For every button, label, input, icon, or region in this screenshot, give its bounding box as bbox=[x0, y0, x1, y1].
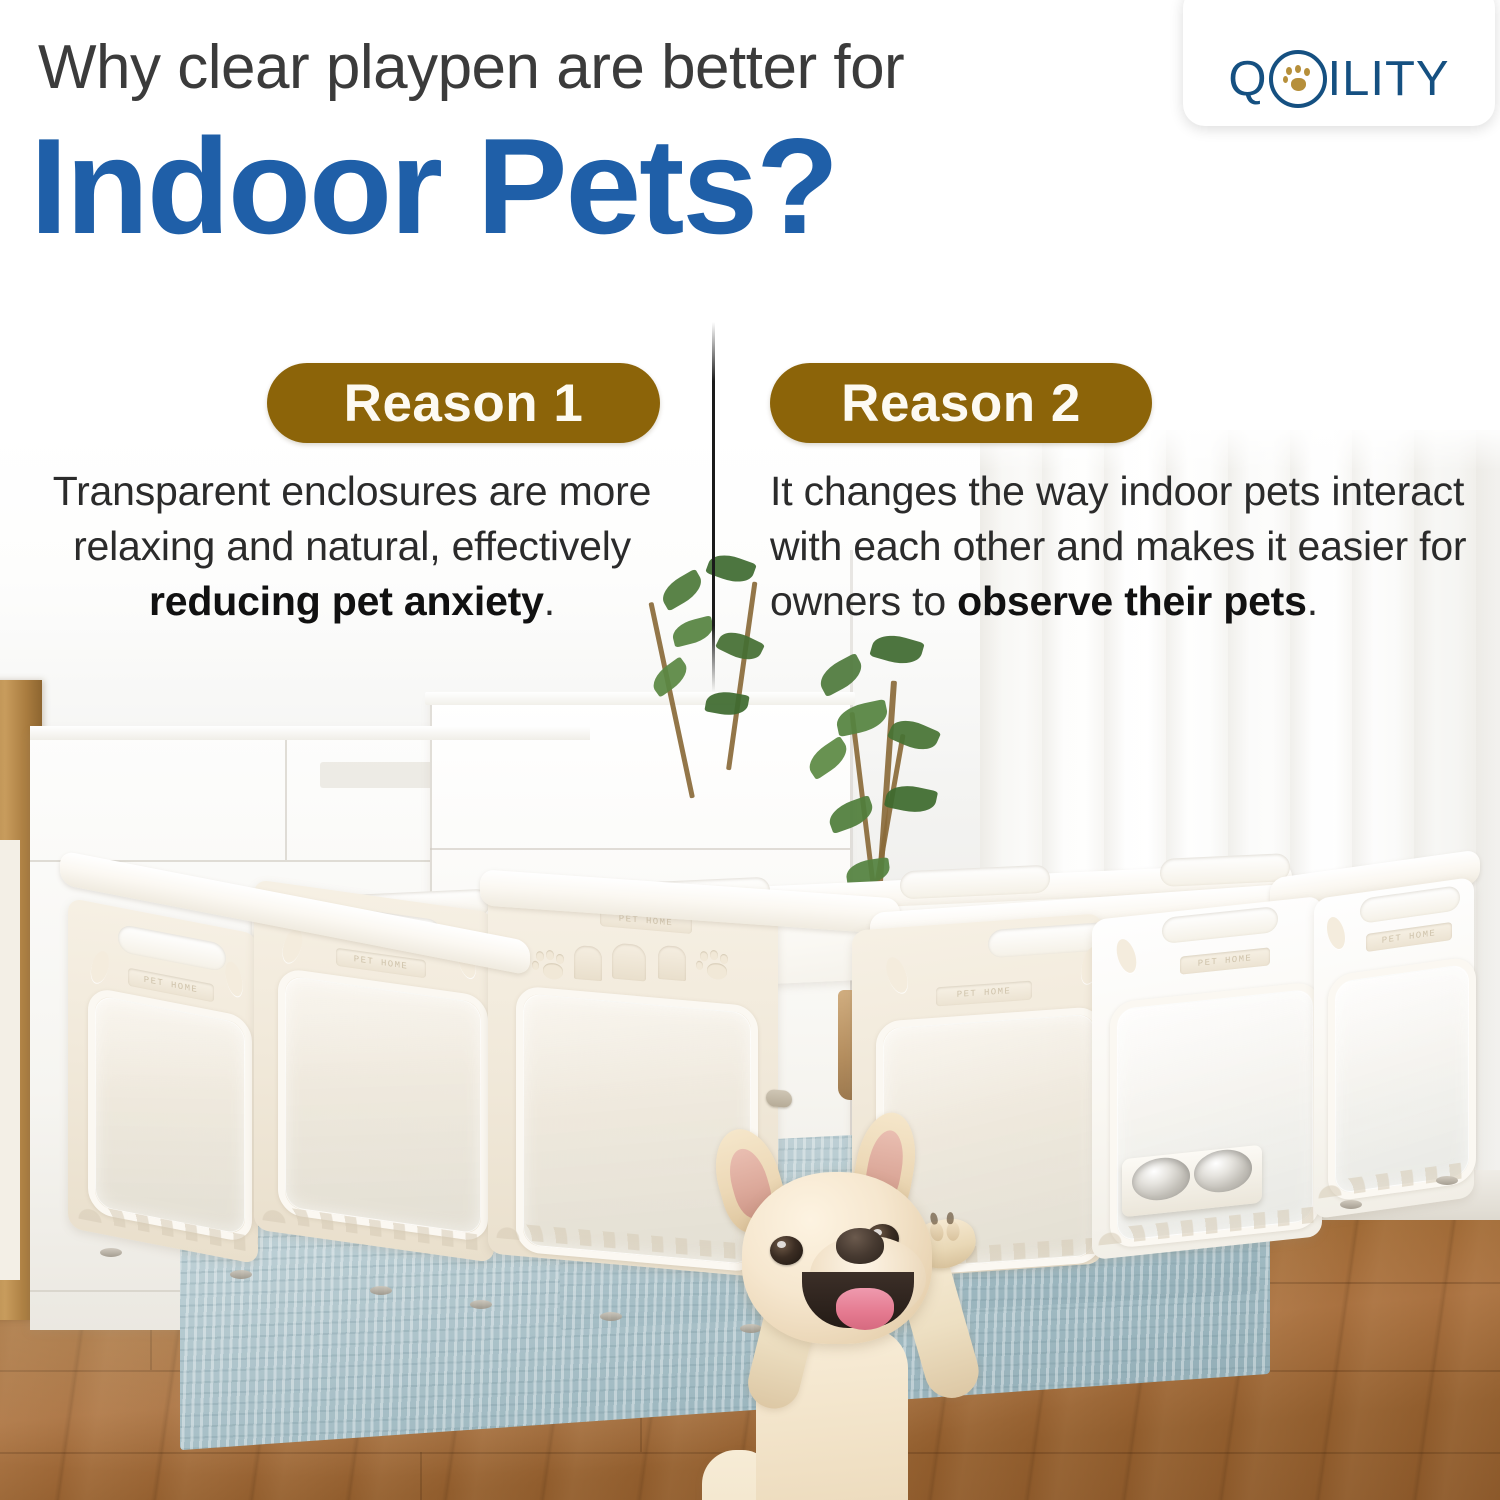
wooden-frame-panel bbox=[0, 840, 20, 1280]
reason-1-plain: Transparent enclosures are more relaxing… bbox=[53, 468, 651, 569]
brand-logo-card[interactable]: Q ILITY bbox=[1183, 0, 1495, 126]
pen-foot-4 bbox=[470, 1300, 492, 1309]
back-handle-4 bbox=[1160, 853, 1290, 887]
clear-window-1 bbox=[88, 986, 252, 1244]
cabinet-left-top-edge bbox=[30, 726, 590, 740]
door-latch-top[interactable] bbox=[766, 1089, 792, 1108]
pen-foot-1 bbox=[100, 1248, 122, 1257]
infographic-page: PET HOME PET HOME bbox=[0, 0, 1500, 1500]
reason-1-tail: . bbox=[544, 578, 555, 624]
pen-foot-8 bbox=[1436, 1176, 1458, 1185]
paw-print-emboss-1 bbox=[532, 949, 566, 986]
logo-text-before: Q bbox=[1228, 51, 1267, 107]
french-bulldog bbox=[660, 1120, 1080, 1500]
cabinet-top-edge bbox=[425, 692, 855, 705]
pen-foot-7 bbox=[1340, 1200, 1362, 1209]
window-emboss-2 bbox=[612, 943, 646, 982]
reason-1-bold: reducing pet anxiety bbox=[149, 578, 544, 624]
badge-reason-2: Reason 2 bbox=[770, 363, 1152, 443]
dog-nose bbox=[836, 1228, 884, 1264]
dog-eye-left bbox=[770, 1236, 803, 1265]
paw-print-icon bbox=[1269, 50, 1327, 108]
paw-print-emboss-2 bbox=[696, 949, 730, 986]
window-emboss-3 bbox=[658, 945, 686, 981]
page-title: Indoor Pets? bbox=[30, 120, 1190, 253]
brand-logo: Q ILITY bbox=[1228, 50, 1449, 108]
kicker-text: Why clear playpen are better for bbox=[38, 36, 1138, 100]
logo-text-after: ILITY bbox=[1328, 51, 1450, 107]
badge-reason-1: Reason 1 bbox=[267, 363, 660, 443]
dog-tongue bbox=[836, 1288, 894, 1330]
reason-2-text: It changes the way indoor pets interact … bbox=[770, 464, 1492, 629]
reason-2-tail: . bbox=[1307, 578, 1318, 624]
reason-1-text: Transparent enclosures are more relaxing… bbox=[14, 464, 690, 629]
reason-2-bold: observe their pets bbox=[957, 578, 1307, 624]
window-emboss-1 bbox=[574, 945, 602, 981]
clear-window-2 bbox=[278, 967, 488, 1243]
pen-foot-3 bbox=[370, 1286, 392, 1295]
pen-foot-5 bbox=[600, 1312, 622, 1321]
pen-foot-2 bbox=[230, 1270, 252, 1279]
column-divider bbox=[712, 322, 715, 692]
